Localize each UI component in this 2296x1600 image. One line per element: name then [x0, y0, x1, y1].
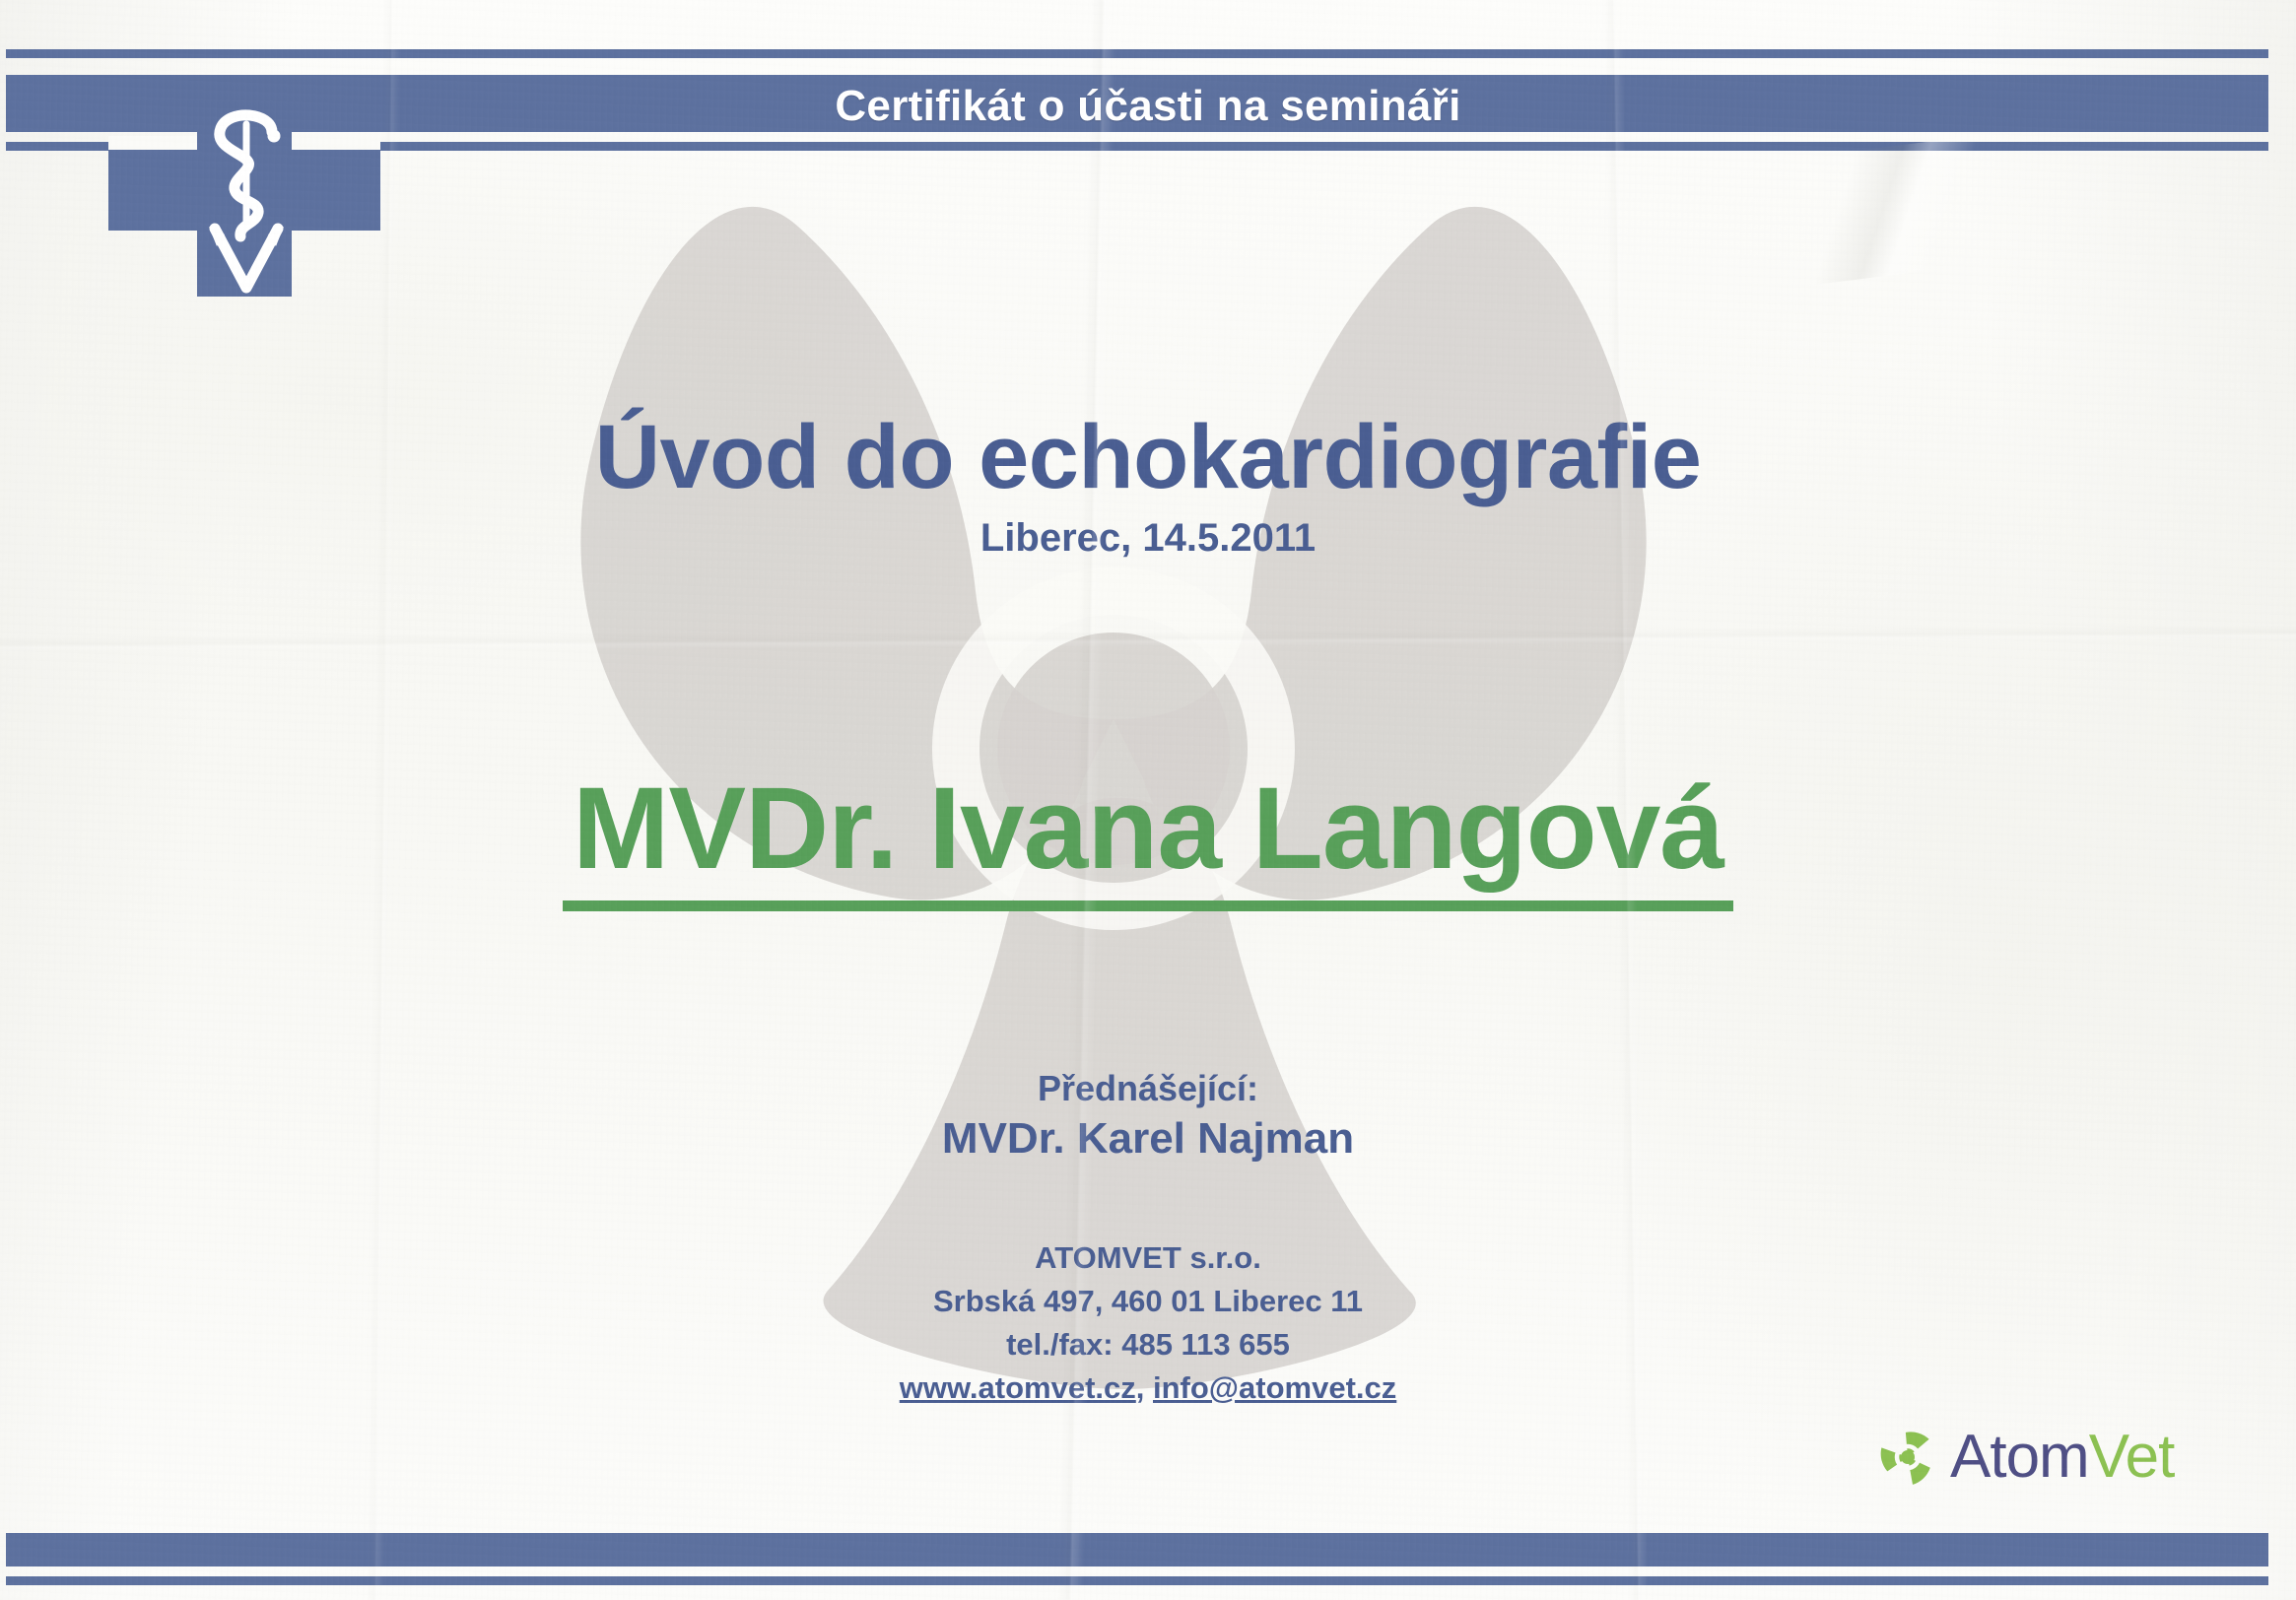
cross-notch-right [292, 136, 380, 150]
lecturer-label: Přednášející: [0, 1066, 2296, 1111]
email-link[interactable]: info@atomvet.cz [1153, 1370, 1396, 1405]
footer-band [6, 1533, 2268, 1567]
brand-text-atom: Atom [1950, 1423, 2089, 1491]
organization-address: Srbská 497, 460 01 Liberec 11 [0, 1280, 2296, 1323]
organization-links: www.atomvet.cz, info@atomvet.cz [0, 1367, 2296, 1410]
recipient-name: MVDr. Ivana Langová [563, 768, 1733, 911]
recipient-block: MVDr. Ivana Langová [0, 768, 2296, 911]
lecturer-block: Přednášející: MVDr. Karel Najman [0, 1066, 2296, 1167]
certificate-header-title: Certifikát o účasti na semináři [0, 82, 2296, 131]
organization-block: ATOMVET s.r.o. Srbská 497, 460 01 Libere… [0, 1236, 2296, 1410]
website-link[interactable]: www.atomvet.cz [900, 1370, 1136, 1405]
seminar-location-date: Liberec, 14.5.2011 [0, 516, 2296, 561]
atomvet-brand-logo: AtomVet [1877, 1427, 2174, 1488]
seminar-title: Úvod do echokardiografie [0, 406, 2296, 509]
footer-rule-thin [6, 1576, 2268, 1585]
organization-phone: tel./fax: 485 113 655 [0, 1323, 2296, 1367]
certificate-page: Certifikát o účasti na semináři [0, 0, 2296, 1600]
header-rule-thin-top [6, 49, 2268, 58]
cross-notch-left [108, 136, 197, 150]
links-separator: , [1136, 1370, 1153, 1405]
brand-text-vet: Vet [2089, 1423, 2175, 1491]
atomvet-wordmark: AtomVet [1950, 1427, 2174, 1488]
organization-company: ATOMVET s.r.o. [0, 1236, 2296, 1280]
lecturer-name: MVDr. Karel Najman [0, 1111, 2296, 1167]
radiation-trefoil-icon [1877, 1427, 1938, 1488]
